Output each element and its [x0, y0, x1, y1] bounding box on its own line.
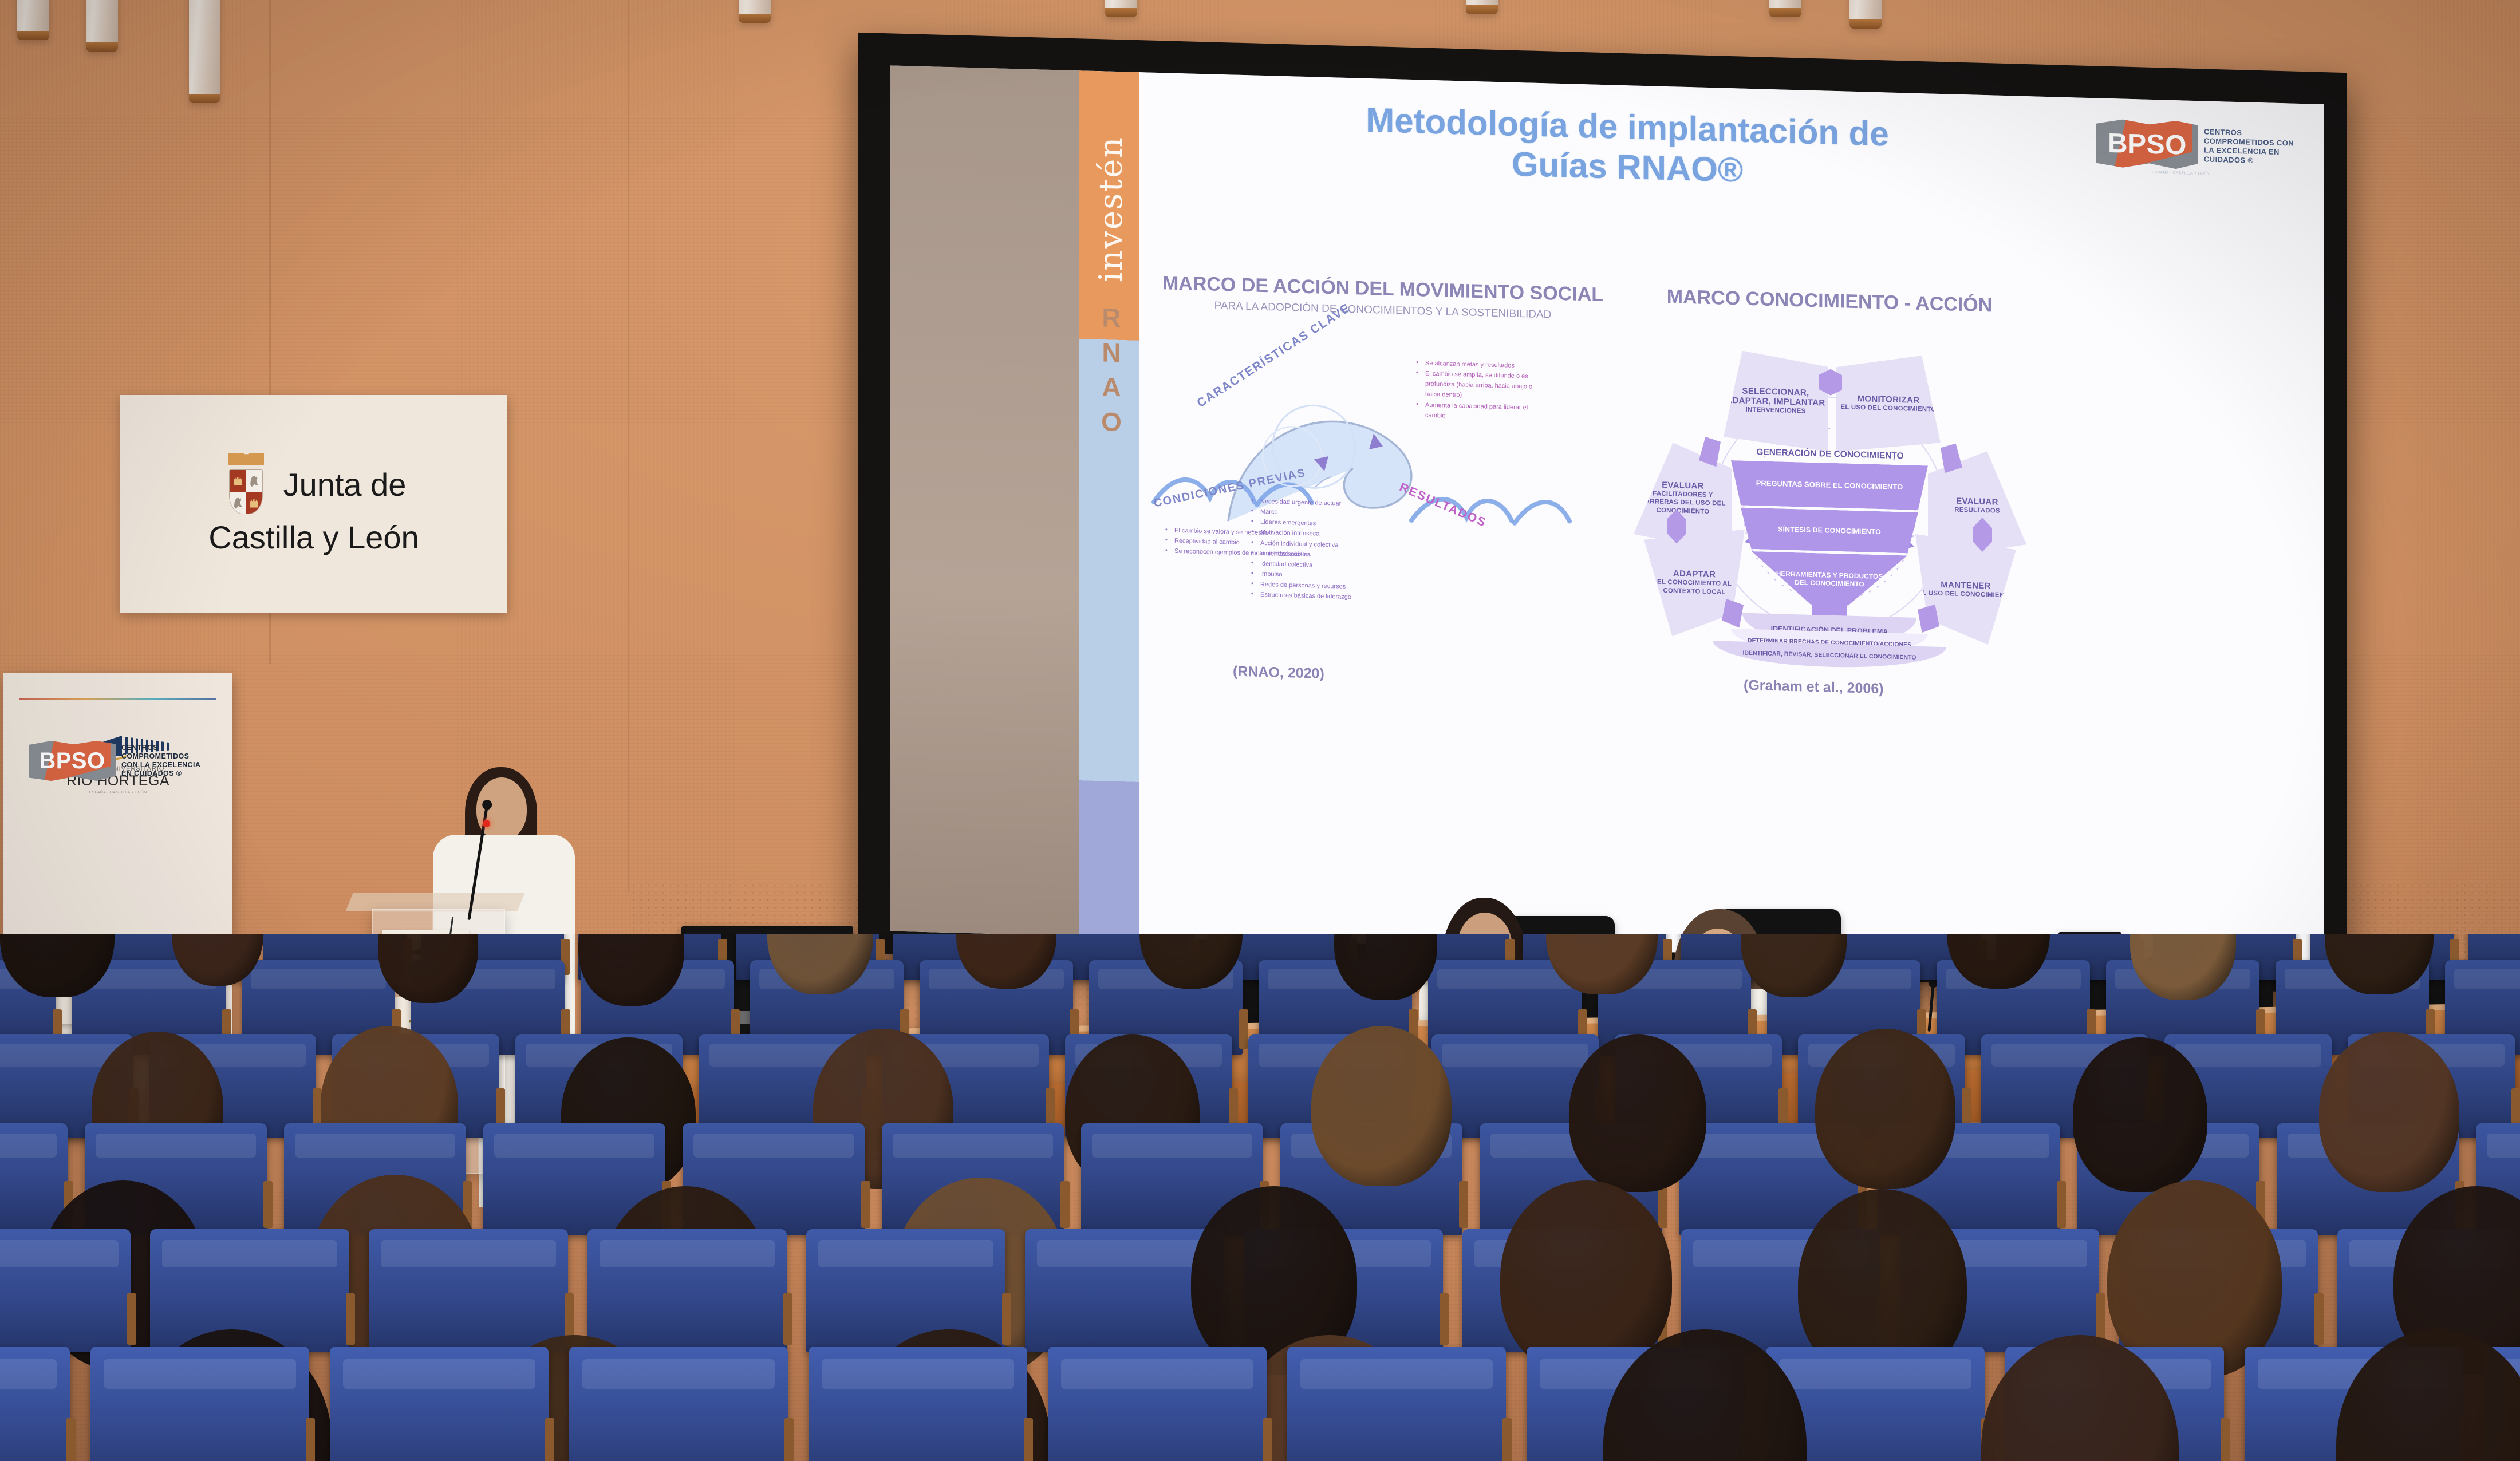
audience-member-head — [2073, 1037, 2207, 1192]
seat-armrest — [2057, 1181, 2066, 1228]
investen-logo: investén — [1090, 87, 1130, 283]
wedge-sub: RESULTADOS — [1954, 506, 2000, 516]
audience-seat — [1048, 1347, 1267, 1461]
seat-armrest — [1239, 1009, 1248, 1049]
funnel-segment-preguntas: PREGUNTAS SOBRE EL CONOCIMIENTO — [1731, 460, 1928, 510]
seat-armrest — [783, 1293, 792, 1345]
bullets-caracteristicas-clave: Necesidad urgente de actuarMarcoLideres … — [1251, 496, 1423, 605]
wedge-seleccionar-adaptar-implantar: SELECCIONAR, ADAPTAR, IMPLANTAR INTERVEN… — [1724, 350, 1828, 452]
audience-seat — [0, 1347, 70, 1461]
castilla-leon-crest-icon — [222, 452, 271, 516]
audience-seat — [0, 1229, 131, 1352]
audience-seat — [1287, 1347, 1506, 1461]
audience-seat — [330, 1347, 549, 1461]
audience-seat — [90, 1347, 309, 1461]
seat-armrest — [346, 1293, 355, 1345]
wedge-sub: EL USO DEL CONOCIMIENTO — [1841, 404, 1937, 414]
ceiling-light — [86, 0, 118, 52]
seat-armrest — [1263, 1418, 1272, 1461]
wedge-title: SELECCIONAR, ADAPTAR, IMPLANTAR — [1726, 386, 1825, 408]
audience-member-head — [1815, 1029, 1955, 1189]
ceiling-light — [189, 0, 220, 103]
seat-armrest — [861, 1181, 870, 1228]
seat-armrest — [1002, 1293, 1011, 1345]
rnao-letter-r: R — [1094, 300, 1129, 335]
seat-armrest — [1060, 1181, 1070, 1228]
auditorium-scene: Junta de Castilla y León HOSPITAL UNIVER… — [0, 0, 2520, 1461]
ceiling-light — [1849, 0, 1882, 29]
seat-armrest — [127, 1293, 136, 1345]
slide-brand-band: investén R N A O — [1079, 70, 1139, 938]
bpso-flag-icon: BPSO — [29, 741, 116, 781]
slide-bpso-sub: ESPAÑA · CASTILLA Y LEÓN — [2152, 171, 2210, 176]
wedge-title: EVALUAR — [1956, 496, 1998, 507]
junta-sign-line1: Junta de — [283, 467, 407, 503]
bullets-resultados: Se alcanzan metas y resultadosEl cambio … — [1416, 358, 1548, 424]
bpso-flag-icon: BPSO — [2096, 119, 2198, 169]
seat-armrest — [263, 1181, 273, 1228]
audience-member-head — [1569, 1034, 1706, 1192]
ceiling-light — [1105, 0, 1137, 17]
seat-armrest — [1459, 1181, 1468, 1228]
banner-bpso-logo: BPSO CENTROS COMPROMETIDOS CON LA EXCELE… — [29, 741, 207, 781]
seat-armrest — [306, 1418, 315, 1461]
slide-bullet: Aumenta la capacidad para liderar el cam… — [1416, 400, 1548, 424]
rnao-letter-n: N — [1094, 335, 1129, 370]
audience-seat — [809, 1347, 1027, 1461]
audience-seat — [369, 1229, 568, 1352]
banner-color-rule — [19, 698, 216, 700]
right-panel-citation: (Graham et al., 2006) — [1744, 677, 1884, 698]
presentation-slide: investén R N A O Metodología de implanta… — [1079, 70, 2324, 970]
wedge-sub: EL CONOCIMIENTO AL CONTEXTO LOCAL — [1646, 578, 1742, 597]
ceiling-light — [1466, 0, 1498, 14]
audience-area: Sacyl Junta de Castilla y León — [0, 934, 2520, 1461]
projection-screen-frame: investén R N A O Metodología de implanta… — [858, 33, 2347, 993]
audience-member-head — [1500, 1180, 1672, 1375]
seat-armrest — [66, 1418, 76, 1461]
rnao-vertical-label: R N A O — [1094, 300, 1129, 440]
wall-seam — [628, 0, 629, 893]
wedge-title: EVALUAR — [1662, 480, 1704, 491]
seat-armrest — [545, 1418, 554, 1461]
right-panel-heading: MARCO CONOCIMIENTO - ACCIÓN — [1623, 285, 2036, 318]
seat-armrest — [1440, 1293, 1449, 1345]
funnel-segment-sintesis: SÍNTESIS DE CONOCIMIENTO — [1741, 508, 1918, 554]
seat-armrest — [1502, 1418, 1512, 1461]
audience-seat — [587, 1229, 787, 1352]
ceiling-light — [1769, 0, 1801, 17]
slide-bpso-tagline: CENTROS COMPROMETIDOS CON LA EXCELENCIA … — [2204, 128, 2300, 167]
wedge-sub: EL USO DEL CONOCIMIENTO — [1918, 589, 2014, 600]
ceiling-light — [17, 0, 49, 40]
wedge-sub: INTERVENCIONES — [1746, 406, 1806, 416]
audience-member-head — [2319, 1032, 2459, 1192]
screen-unlit-area — [890, 65, 1079, 936]
seat-armrest — [1024, 1418, 1033, 1461]
slide-bullet: El cambio se amplía, se difunde o es pro… — [1416, 368, 1548, 403]
ceiling-light — [739, 0, 771, 23]
banner-bpso-sub: ESPAÑA · CASTILLA Y LEÓN — [89, 791, 147, 795]
bpso-wordmark: BPSO — [39, 748, 105, 774]
projection-screen: investén R N A O Metodología de implanta… — [890, 65, 2324, 970]
seat-armrest — [784, 1418, 794, 1461]
slide-bpso-logo: BPSO CENTROS COMPROMETIDOS CON LA EXCELE… — [2096, 119, 2300, 172]
seat-armrest — [2221, 1418, 2230, 1461]
wedge-title: ADAPTAR — [1673, 568, 1716, 579]
left-panel-citation: (RNAO, 2020) — [1233, 664, 1324, 682]
knowledge-to-action-cycle: SELECCIONAR, ADAPTAR, IMPLANTAR INTERVEN… — [1612, 337, 2047, 669]
podium-mic-indicator-light — [483, 820, 490, 827]
audience-member-head — [1311, 1026, 1452, 1186]
rnao-letter-o: O — [1094, 404, 1129, 440]
slide-title: Metodología de implantación de Guías RNA… — [1251, 97, 2004, 197]
seat-armrest — [2314, 1293, 2324, 1345]
banner-bpso-tagline: CENTROS COMPROMETIDOS CON LA EXCELENCIA … — [121, 744, 207, 779]
junta-castilla-leon-sign: Junta de Castilla y León — [120, 395, 507, 613]
bpso-wordmark: BPSO — [2108, 127, 2187, 161]
audience-seat — [569, 1347, 788, 1461]
junta-sign-line2: Castilla y León — [208, 520, 419, 556]
rnao-letter-a: A — [1094, 369, 1129, 405]
